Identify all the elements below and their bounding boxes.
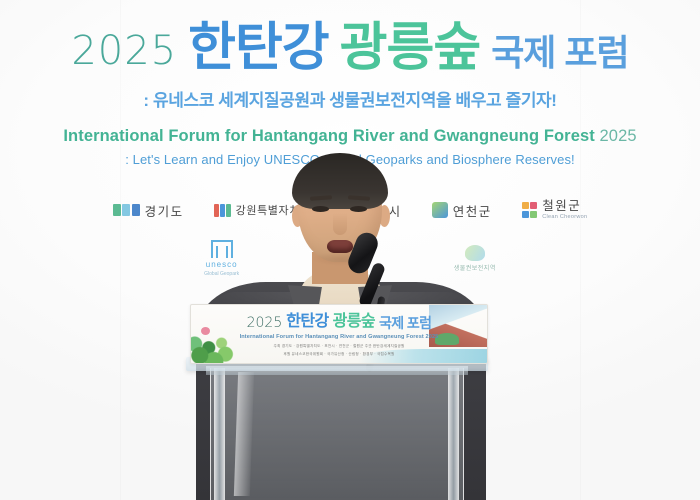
podium-banner: 2025 한탄강 광릉숲 국제 포럼 International Forum f…	[190, 304, 488, 364]
banner-fine-print-hosts: 주최 경기도 · 강원특별자치도 · 포천시 · 연천군 · 철원군 주관 한탄…	[191, 344, 487, 349]
podium-leg-right	[448, 368, 459, 500]
podium-leg-left	[214, 368, 225, 500]
banner-text-block: 2025 한탄강 광릉숲 국제 포럼 International Forum f…	[191, 305, 487, 357]
podium: 2025 한탄강 광릉숲 국제 포럼 International Forum f…	[0, 0, 700, 500]
banner-hantangang: 한탄강	[286, 314, 328, 330]
banner-year: 2025	[247, 316, 283, 330]
banner-english-subtitle: International Forum for Hantangang River…	[191, 334, 487, 340]
banner-fine-print-sponsors: 후원 유네스코한국위원회 · 국가유산청 · 산림청 · 환경부 · 국립수목원	[191, 352, 487, 357]
press-photo: 2025 한탄강 광릉숲 국제 포럼 : 유네스코 세계지질공원과 생물권보전지…	[0, 0, 700, 500]
banner-title-row: 2025 한탄강 광릉숲 국제 포럼	[191, 314, 487, 330]
banner-gwangneung: 광릉숲	[333, 314, 375, 330]
banner-forum-suffix: 국제 포럼	[379, 316, 431, 330]
